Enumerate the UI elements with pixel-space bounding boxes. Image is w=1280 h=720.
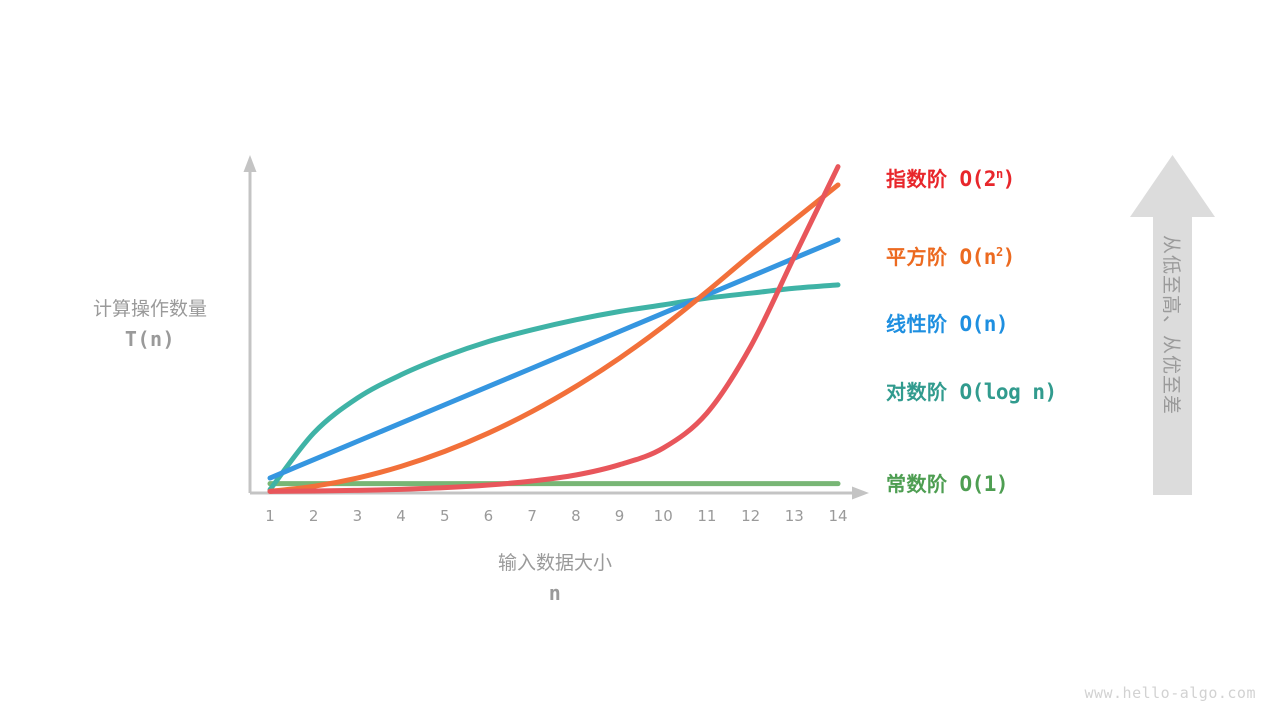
x-axis-tick-label: 8 [559,507,593,525]
x-axis-tick-label: 5 [428,507,462,525]
legend-item-quadratic[interactable]: 平方阶O(n2) [886,241,1015,270]
chart-canvas: 计算操作数量 T(n) 输入数据大小 n 1234567891011121314… [0,0,1280,720]
legend-label-linear: 线性阶 [886,312,948,336]
legend-notation-linear: O(n) [960,312,1009,336]
legend-label-logarithmic: 对数阶 [886,380,948,404]
y-axis-title-line2: T(n) [35,324,265,354]
x-axis-title-line1: 输入数据大小 [440,548,670,578]
legend-item-constant[interactable]: 常数阶O(1) [886,468,1008,497]
y-axis-title-line1: 计算操作数量 [35,294,265,324]
x-axis-tick-label: 12 [734,507,768,525]
legend-notation-exponent: 2 [996,245,1003,259]
x-axis-tick-label: 1 [253,507,287,525]
legend-notation-logarithmic: O(log n) [960,380,1057,404]
legend-item-exponential[interactable]: 指数阶O(2n) [886,163,1015,192]
x-axis-tick-label: 10 [646,507,680,525]
x-axis-tick-label: 3 [340,507,374,525]
watermark: www.hello-algo.com [1084,684,1256,702]
ranking-arrow-annotation: 从低至高、从优至差 [1130,155,1215,495]
x-axis-arrowhead [852,487,869,500]
ranking-arrow-label: 从低至高、从优至差 [1130,155,1215,495]
x-axis-title-line2: n [440,578,670,608]
x-axis-tick-label: 9 [603,507,637,525]
x-axis-tick-label: 6 [471,507,505,525]
legend-notation-exponent: n [996,167,1003,181]
x-axis-tick-label: 13 [777,507,811,525]
y-axis-title: 计算操作数量 T(n) [35,294,265,354]
legend-label-exponential: 指数阶 [886,167,948,191]
y-axis-arrowhead [244,155,257,172]
x-axis-tick-label: 4 [384,507,418,525]
x-axis-title: 输入数据大小 n [440,548,670,608]
legend-label-constant: 常数阶 [886,472,948,496]
x-axis-tick-label: 14 [821,507,855,525]
series-line [270,240,838,478]
x-axis-tick-label: 7 [515,507,549,525]
legend-notation-exponential: O(2n) [960,167,1015,191]
data-curves [270,167,838,492]
legend-item-logarithmic[interactable]: 对数阶O(log n) [886,376,1057,405]
series-line [270,285,838,490]
legend-notation-quadratic: O(n2) [960,245,1015,269]
legend-notation-constant: O(1) [960,472,1009,496]
plot-area [0,0,1280,720]
legend-item-linear[interactable]: 线性阶O(n) [886,308,1008,337]
x-axis-tick-label: 11 [690,507,724,525]
x-axis-tick-label: 2 [297,507,331,525]
legend-label-quadratic: 平方阶 [886,245,948,269]
